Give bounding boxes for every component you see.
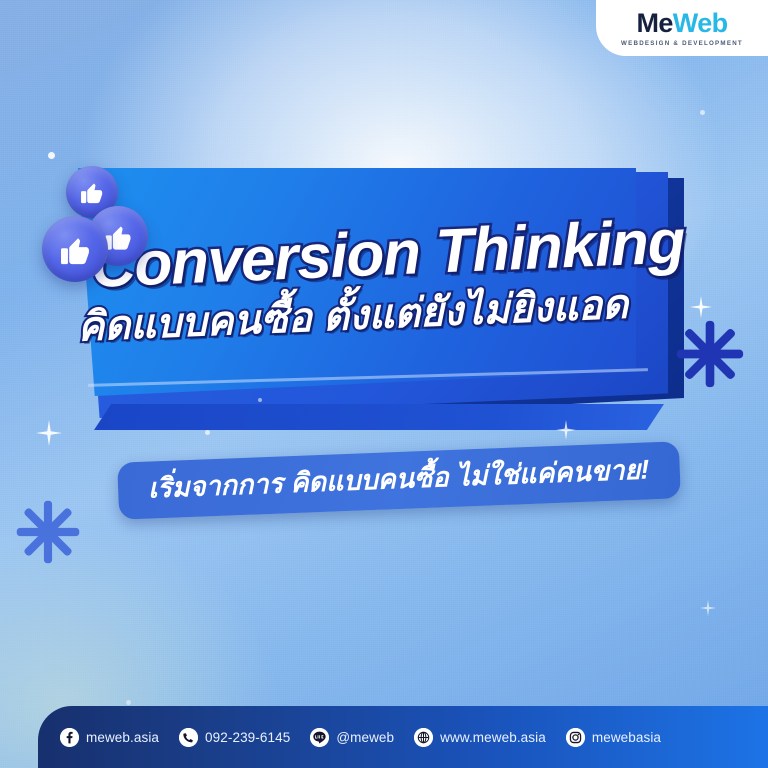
contact-label-phone: 092-239-6145: [205, 730, 290, 745]
sparkle-dot: [48, 152, 55, 159]
contact-label-instagram: mewebasia: [592, 730, 661, 745]
asterisk-decoration-right: [674, 318, 746, 390]
brand-logo-badge[interactable]: MeWeb WEBDESIGN & DEVELOPMENT: [596, 0, 768, 56]
thumbs-up-icon: [57, 231, 94, 268]
line-icon: [310, 728, 329, 747]
brand-logo-wordmark: MeWeb: [636, 10, 727, 37]
logo-text-web: Web: [673, 8, 728, 38]
contact-item-website[interactable]: www.meweb.asia: [414, 728, 546, 747]
contact-item-facebook[interactable]: meweb.asia: [60, 728, 159, 747]
sparkle-dot: [126, 700, 131, 705]
contact-item-line[interactable]: @meweb: [310, 728, 394, 747]
asterisk-decoration-left: [14, 498, 82, 566]
sparkle-star-icon: [36, 420, 62, 446]
sparkle-dot: [205, 430, 210, 435]
facebook-icon: [60, 728, 79, 747]
contact-item-phone[interactable]: 092-239-6145: [179, 728, 290, 747]
instagram-icon: [566, 728, 585, 747]
tagline-pill: เริ่มจากการ คิดแบบคนซื้อ ไม่ใช่แค่คนขาย!: [117, 441, 680, 520]
sparkle-dot: [700, 110, 705, 115]
contact-label-line: @meweb: [336, 730, 394, 745]
sparkle-star-icon: [700, 600, 716, 616]
thumbs-up-icon: [78, 178, 106, 206]
thumbs-up-badge-left: [42, 216, 108, 282]
brand-logo-tagline: WEBDESIGN & DEVELOPMENT: [621, 40, 743, 47]
globe-icon: [414, 728, 433, 747]
tagline-text: เริ่มจากการ คิดแบบคนซื้อ ไม่ใช่แค่คนขาย!: [148, 453, 650, 505]
contact-item-instagram[interactable]: mewebasia: [566, 728, 661, 747]
banner-tail-bar: [94, 404, 664, 430]
contact-label-website: www.meweb.asia: [440, 730, 546, 745]
phone-icon: [179, 728, 198, 747]
social-media-poster: Conversion Thinking คิดแบบคนซื้อ ตั้งแต่…: [0, 0, 768, 768]
contact-footer-bar: meweb.asia 092-239-6145: [38, 706, 768, 768]
contact-label-facebook: meweb.asia: [86, 730, 159, 745]
logo-text-me: Me: [636, 8, 672, 38]
